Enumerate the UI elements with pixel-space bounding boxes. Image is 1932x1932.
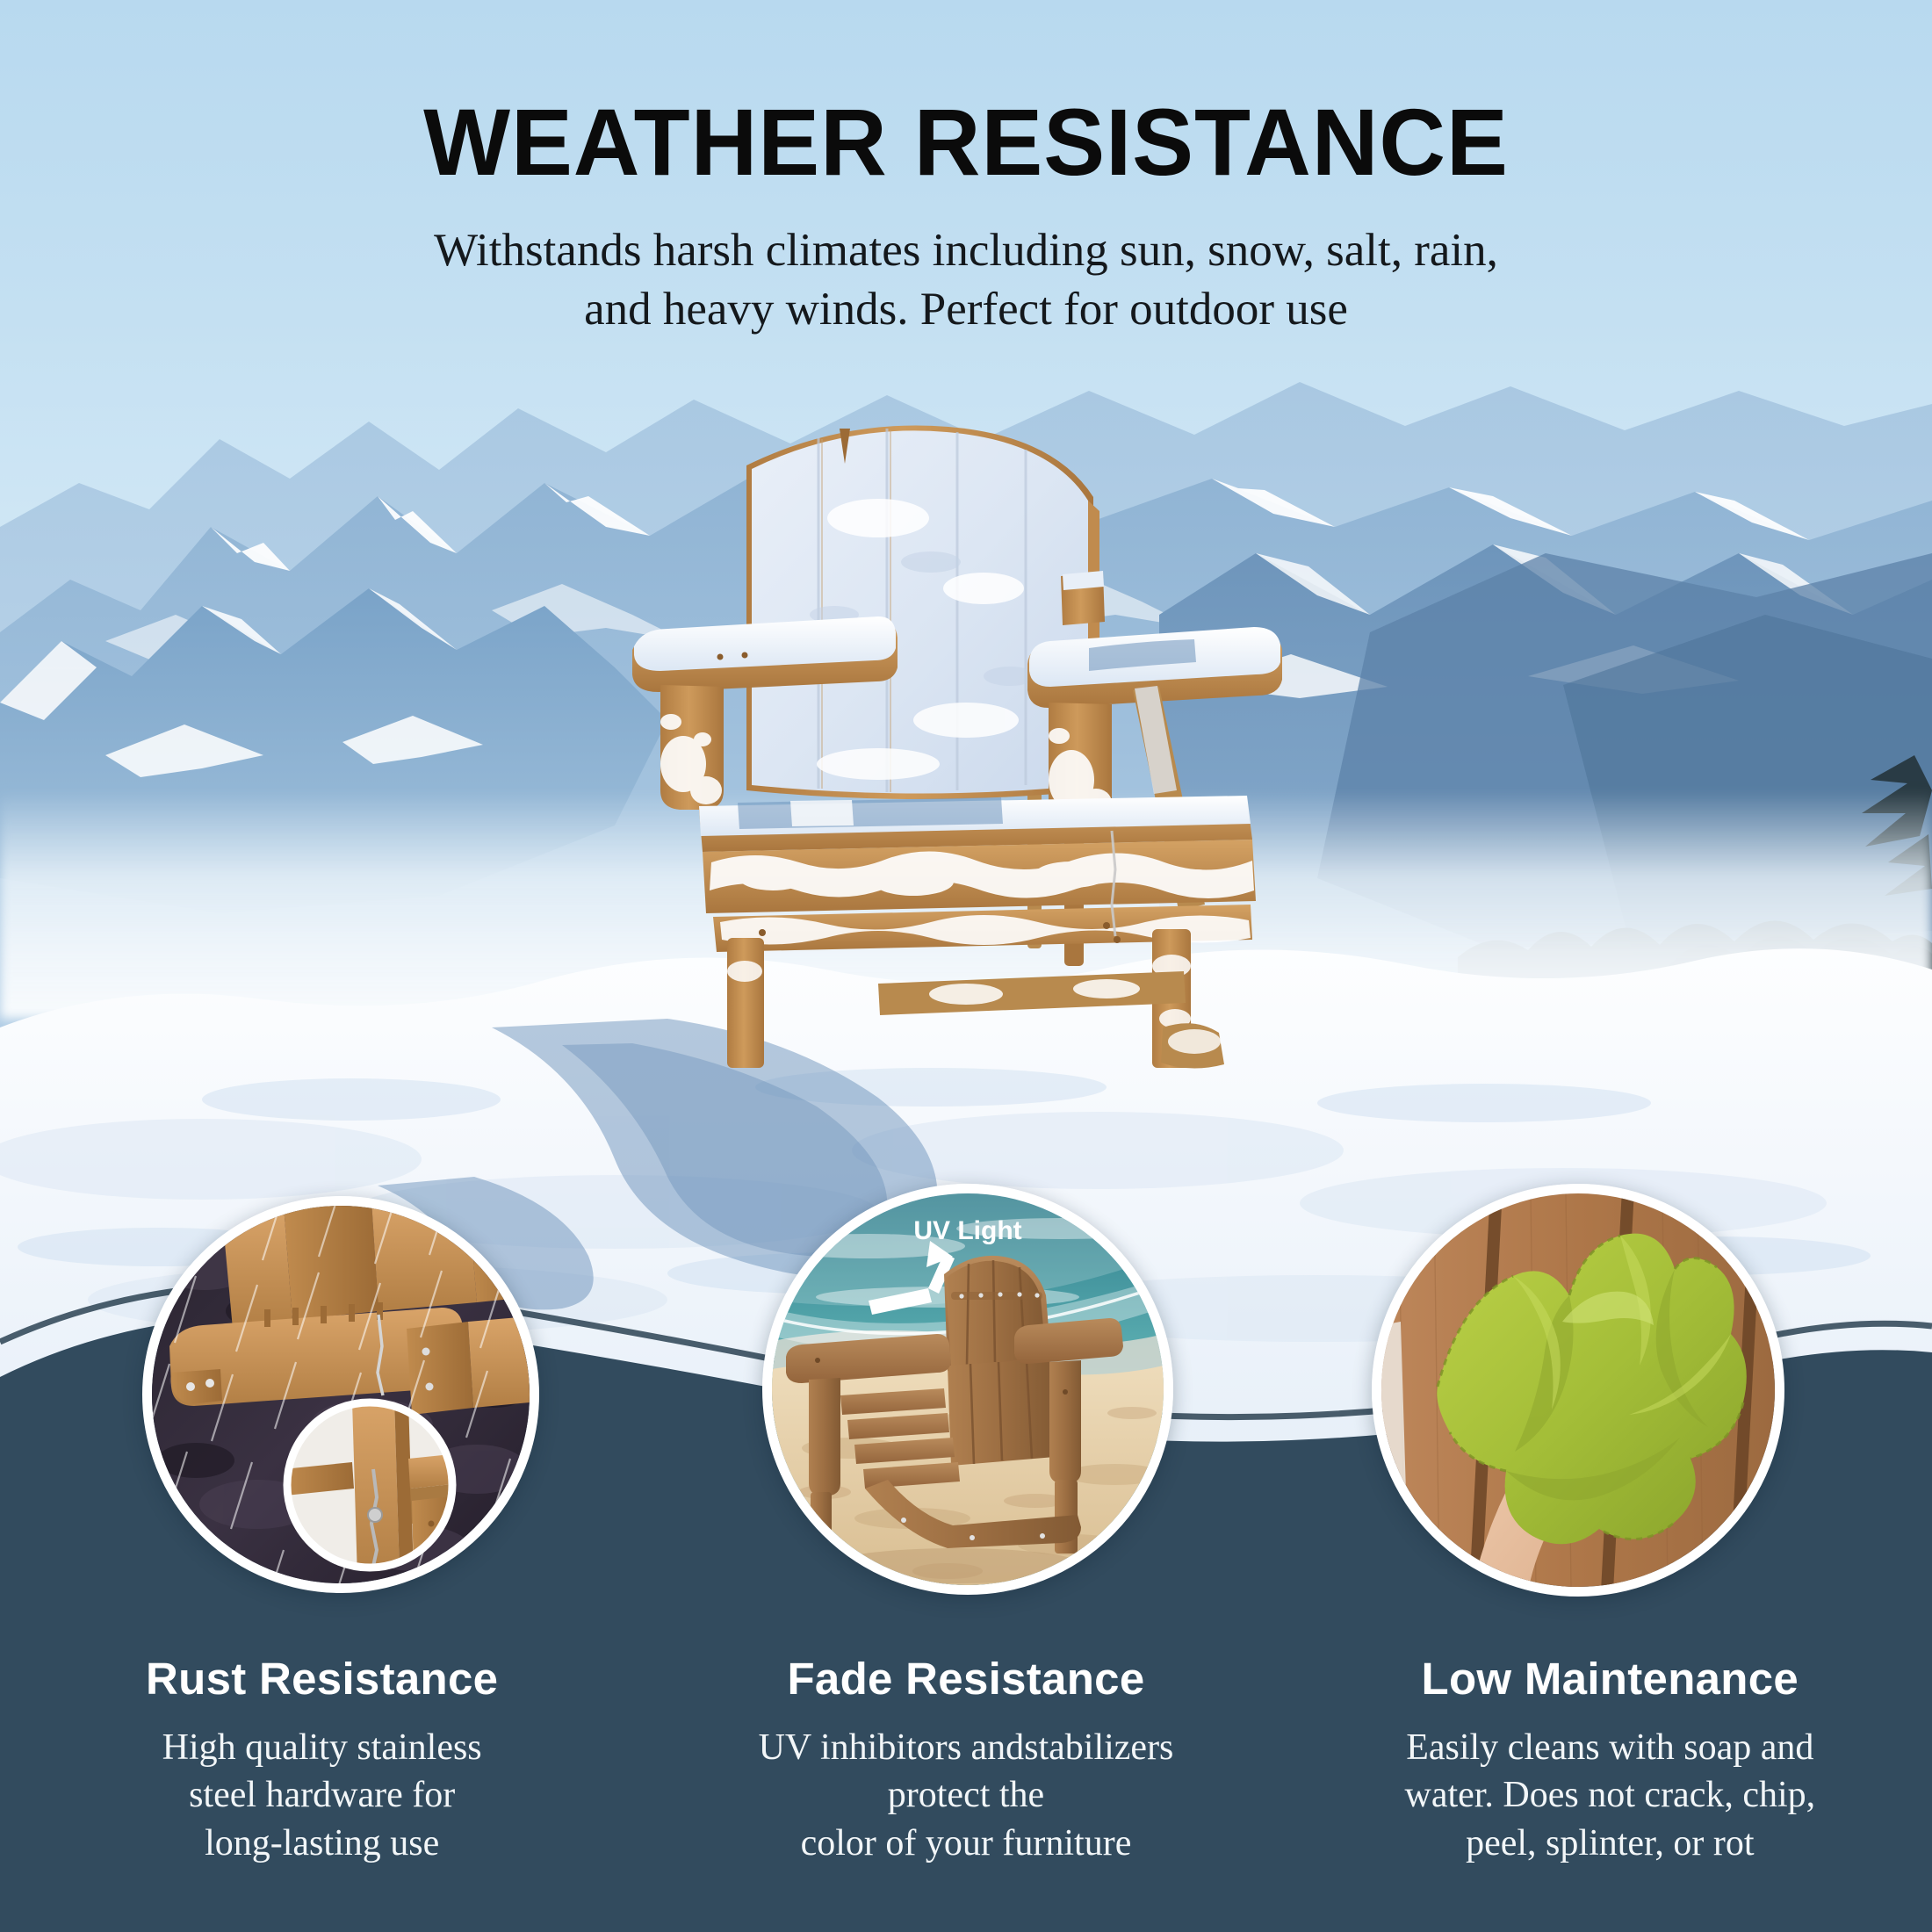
feature-body-line: water. Does not crack, chip, [1308, 1771, 1913, 1820]
uv-light-label: UV Light [913, 1216, 1021, 1245]
feature-image-rust-resistance[interactable] [142, 1196, 539, 1593]
feature-image-low-maintenance[interactable] [1372, 1184, 1784, 1597]
feature-heading-low-maintenance: Low Maintenance [1308, 1655, 1913, 1703]
feature-body-line: UV inhibitors andstabilizers [663, 1724, 1268, 1772]
feature-body-line: peel, splinter, or rot [1308, 1820, 1913, 1868]
feature-body-rust-resistance: High quality stainless steel hardware fo… [19, 1724, 624, 1868]
feature-image-fade-resistance[interactable]: UV Light [762, 1184, 1173, 1595]
feature-text-columns: Rust Resistance High quality stainless s… [0, 1655, 1932, 1919]
feature-body-line: Easily cleans with soap and [1308, 1724, 1913, 1772]
feature-body-low-maintenance: Easily cleans with soap and water. Does … [1308, 1724, 1913, 1868]
subtitle-line-1: Withstands harsh climates including sun,… [281, 221, 1651, 280]
feature-column-low-maintenance: Low Maintenance Easily cleans with soap … [1288, 1655, 1932, 1919]
subtitle-line-2: and heavy winds. Perfect for outdoor use [281, 280, 1651, 339]
feature-column-rust-resistance: Rust Resistance High quality stainless s… [0, 1655, 644, 1919]
feature-heading-fade-resistance: Fade Resistance [663, 1655, 1268, 1703]
feature-body-fade-resistance: UV inhibitors andstabilizers protect the… [663, 1724, 1268, 1868]
header-block: WEATHER RESISTANCE Withstands harsh clim… [0, 0, 1932, 340]
feature-body-line: long-lasting use [19, 1820, 624, 1868]
hero-product-chair [615, 413, 1317, 1080]
feature-heading-rust-resistance: Rust Resistance [19, 1655, 624, 1703]
page-subtitle: Withstands harsh climates including sun,… [281, 221, 1651, 340]
infographic-canvas: WEATHER RESISTANCE Withstands harsh clim… [0, 0, 1932, 1932]
feature-body-line: High quality stainless [19, 1724, 624, 1772]
feature-body-line: color of your furniture [663, 1820, 1268, 1868]
feature-body-line: protect the [663, 1771, 1268, 1820]
feature-body-line: steel hardware for [19, 1771, 624, 1820]
feature-column-fade-resistance: Fade Resistance UV inhibitors andstabili… [644, 1655, 1287, 1919]
page-title: WEATHER RESISTANCE [29, 95, 1903, 190]
